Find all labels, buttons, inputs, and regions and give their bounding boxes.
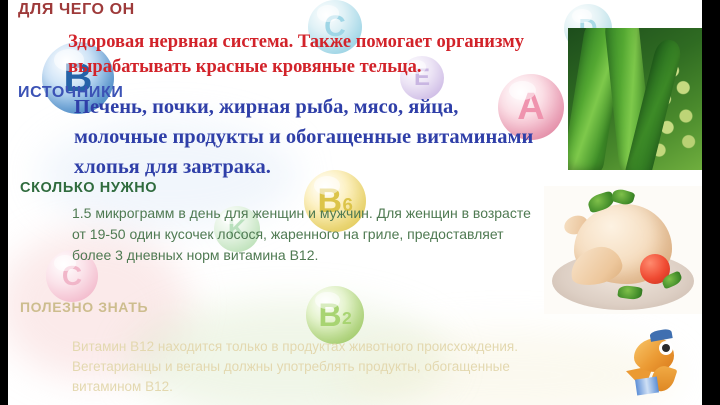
section-heading-how-much: СКОЛЬКО НУЖНО [20,180,157,196]
slide-content-area: D C E B A K B6 C B2 ДЛЯ ЧЕГО ОН Здоровая… [8,0,702,405]
image-green-peas [568,28,702,170]
bubble-subscript: 2 [342,308,352,329]
bubble-letter: C [62,262,82,290]
vitamin-bubble-b2-icon: B2 [306,286,364,344]
section-body-purpose: Здоровая нервная система. Также помогает… [68,30,598,80]
slide-canvas: D C E B A K B6 C B2 ДЛЯ ЧЕГО ОН Здоровая… [0,0,720,405]
section-body-sources: Печень, почки, жирная рыба, мясо, яйца, … [74,92,544,182]
fish-eye [662,344,670,352]
letterbox-bar-left [0,0,8,405]
image-cartoon-fish [622,328,692,405]
bubble-letter: B [319,299,342,331]
fish-book [635,377,659,396]
fish-hat [649,328,672,342]
section-heading-useful-to-know: ПОЛЕЗНО ЗНАТЬ [20,299,148,315]
letterbox-bar-right [702,0,720,405]
section-heading-purpose: ДЛЯ ЧЕГО ОН [18,1,135,19]
image-roast-chicken [544,186,702,314]
section-body-useful-to-know: Витамин B12 находится только в продуктах… [72,337,552,397]
section-body-how-much: 1.5 микрограмм в день для женщин и мужчи… [72,203,542,266]
